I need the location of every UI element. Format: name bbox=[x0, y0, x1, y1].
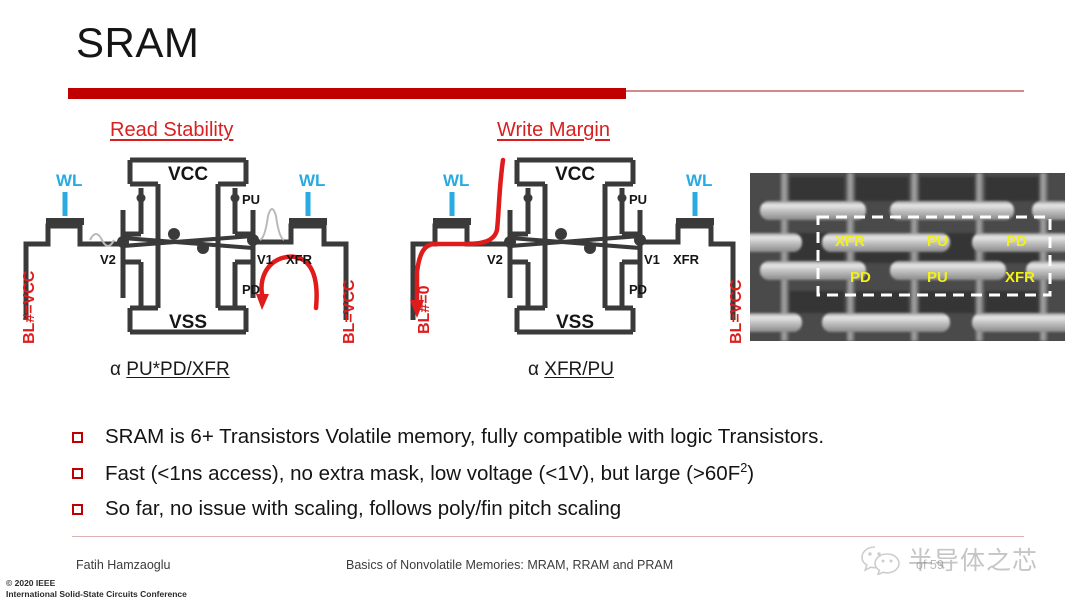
alpha-symbol-read: α bbox=[110, 359, 121, 380]
label-bitline-left: BL#=0 bbox=[416, 285, 433, 334]
sem-label-pd-bottom: PD bbox=[850, 269, 871, 286]
copyright-line-1: © 2020 IEEE bbox=[6, 578, 187, 589]
footer-author: Fatih Hamzaoglu bbox=[76, 558, 171, 572]
bullet-text: Fast (<1ns access), no extra mask, low v… bbox=[105, 460, 754, 486]
sem-label-xfr-bottom: XFR bbox=[1005, 269, 1035, 286]
label-bitline-left: BL#=VCC bbox=[21, 270, 38, 344]
watermark-text: 半导体之芯 bbox=[908, 541, 1038, 577]
label-v2: V2 bbox=[100, 252, 116, 267]
label-wl-left: WL bbox=[56, 171, 82, 190]
bullet-square-icon bbox=[72, 504, 83, 515]
label-bitline-right: BL=VCC bbox=[728, 279, 745, 344]
label-v1: V1 bbox=[257, 252, 273, 267]
copyright-line-2: International Solid-State Circuits Confe… bbox=[6, 589, 187, 600]
sem-label-xfr-top: XFR bbox=[835, 233, 865, 250]
slide-root: SRAM Read Stability bbox=[0, 0, 1080, 607]
footer-course-title: Basics of Nonvolatile Memories: MRAM, RR… bbox=[346, 558, 673, 572]
bullet-text: SRAM is 6+ Transistors Volatile memory, … bbox=[105, 424, 824, 450]
bullet-text-post: ) bbox=[747, 461, 754, 484]
circuit-diagram-read-stability: VCC VSS PU PD V2 V1 XFR WL WL BL#=VCC BL… bbox=[8, 148, 368, 348]
bullet-text: So far, no issue with scaling, follows p… bbox=[105, 496, 621, 522]
proportionality-expression-write: XFR/PU bbox=[544, 359, 614, 380]
sem-label-pd-top: PD bbox=[1006, 233, 1027, 250]
sem-micrograph-sram-cell: XFR PU PD PD PU XFR bbox=[750, 173, 1065, 341]
label-wl-right: WL bbox=[686, 171, 712, 190]
label-v1: V1 bbox=[644, 252, 660, 267]
section-heading-write-margin: Write Margin bbox=[497, 119, 610, 142]
list-item: Fast (<1ns access), no extra mask, low v… bbox=[72, 460, 1002, 486]
proportionality-expression-read: PU*PD/XFR bbox=[126, 359, 229, 380]
label-pd: PD bbox=[242, 282, 260, 297]
circuit-diagram-write-margin: VCC VSS PU PD V2 V1 XFR WL WL BL#=0 BL=V… bbox=[395, 148, 755, 348]
label-v2: V2 bbox=[487, 252, 503, 267]
bullet-text-pre: Fast (<1ns access), no extra mask, low v… bbox=[105, 461, 740, 484]
label-wl-right: WL bbox=[299, 171, 325, 190]
label-xfr: XFR bbox=[673, 252, 700, 267]
page-title: SRAM bbox=[76, 22, 199, 64]
watermark: 半导体之芯 bbox=[860, 536, 1060, 582]
sem-label-pu-top: PU bbox=[927, 233, 948, 250]
label-pd: PD bbox=[629, 282, 647, 297]
copyright-notice: © 2020 IEEE International Solid-State Ci… bbox=[6, 578, 187, 600]
label-wl-left: WL bbox=[443, 171, 469, 190]
bullet-square-icon bbox=[72, 468, 83, 479]
label-pu: PU bbox=[242, 192, 260, 207]
bullet-list: SRAM is 6+ Transistors Volatile memory, … bbox=[72, 424, 1002, 532]
label-vcc: VCC bbox=[168, 164, 208, 185]
label-bitline-right: BL=VCC bbox=[341, 279, 358, 344]
sem-label-pu-bottom: PU bbox=[927, 269, 948, 286]
label-xfr: XFR bbox=[286, 252, 313, 267]
list-item: So far, no issue with scaling, follows p… bbox=[72, 496, 1002, 522]
title-rule-thick bbox=[68, 88, 626, 99]
label-vss: VSS bbox=[556, 312, 594, 333]
section-heading-read-stability: Read Stability bbox=[110, 119, 233, 142]
wechat-icon bbox=[860, 543, 902, 575]
title-rule-thin bbox=[626, 90, 1024, 92]
alpha-symbol-write: α bbox=[528, 359, 539, 380]
bullet-square-icon bbox=[72, 432, 83, 443]
proportionality-read: α PU*PD/XFR bbox=[110, 359, 230, 381]
label-vcc: VCC bbox=[555, 164, 595, 185]
proportionality-write: α XFR/PU bbox=[528, 359, 614, 381]
list-item: SRAM is 6+ Transistors Volatile memory, … bbox=[72, 424, 1002, 450]
label-pu: PU bbox=[629, 192, 647, 207]
label-vss: VSS bbox=[169, 312, 207, 333]
